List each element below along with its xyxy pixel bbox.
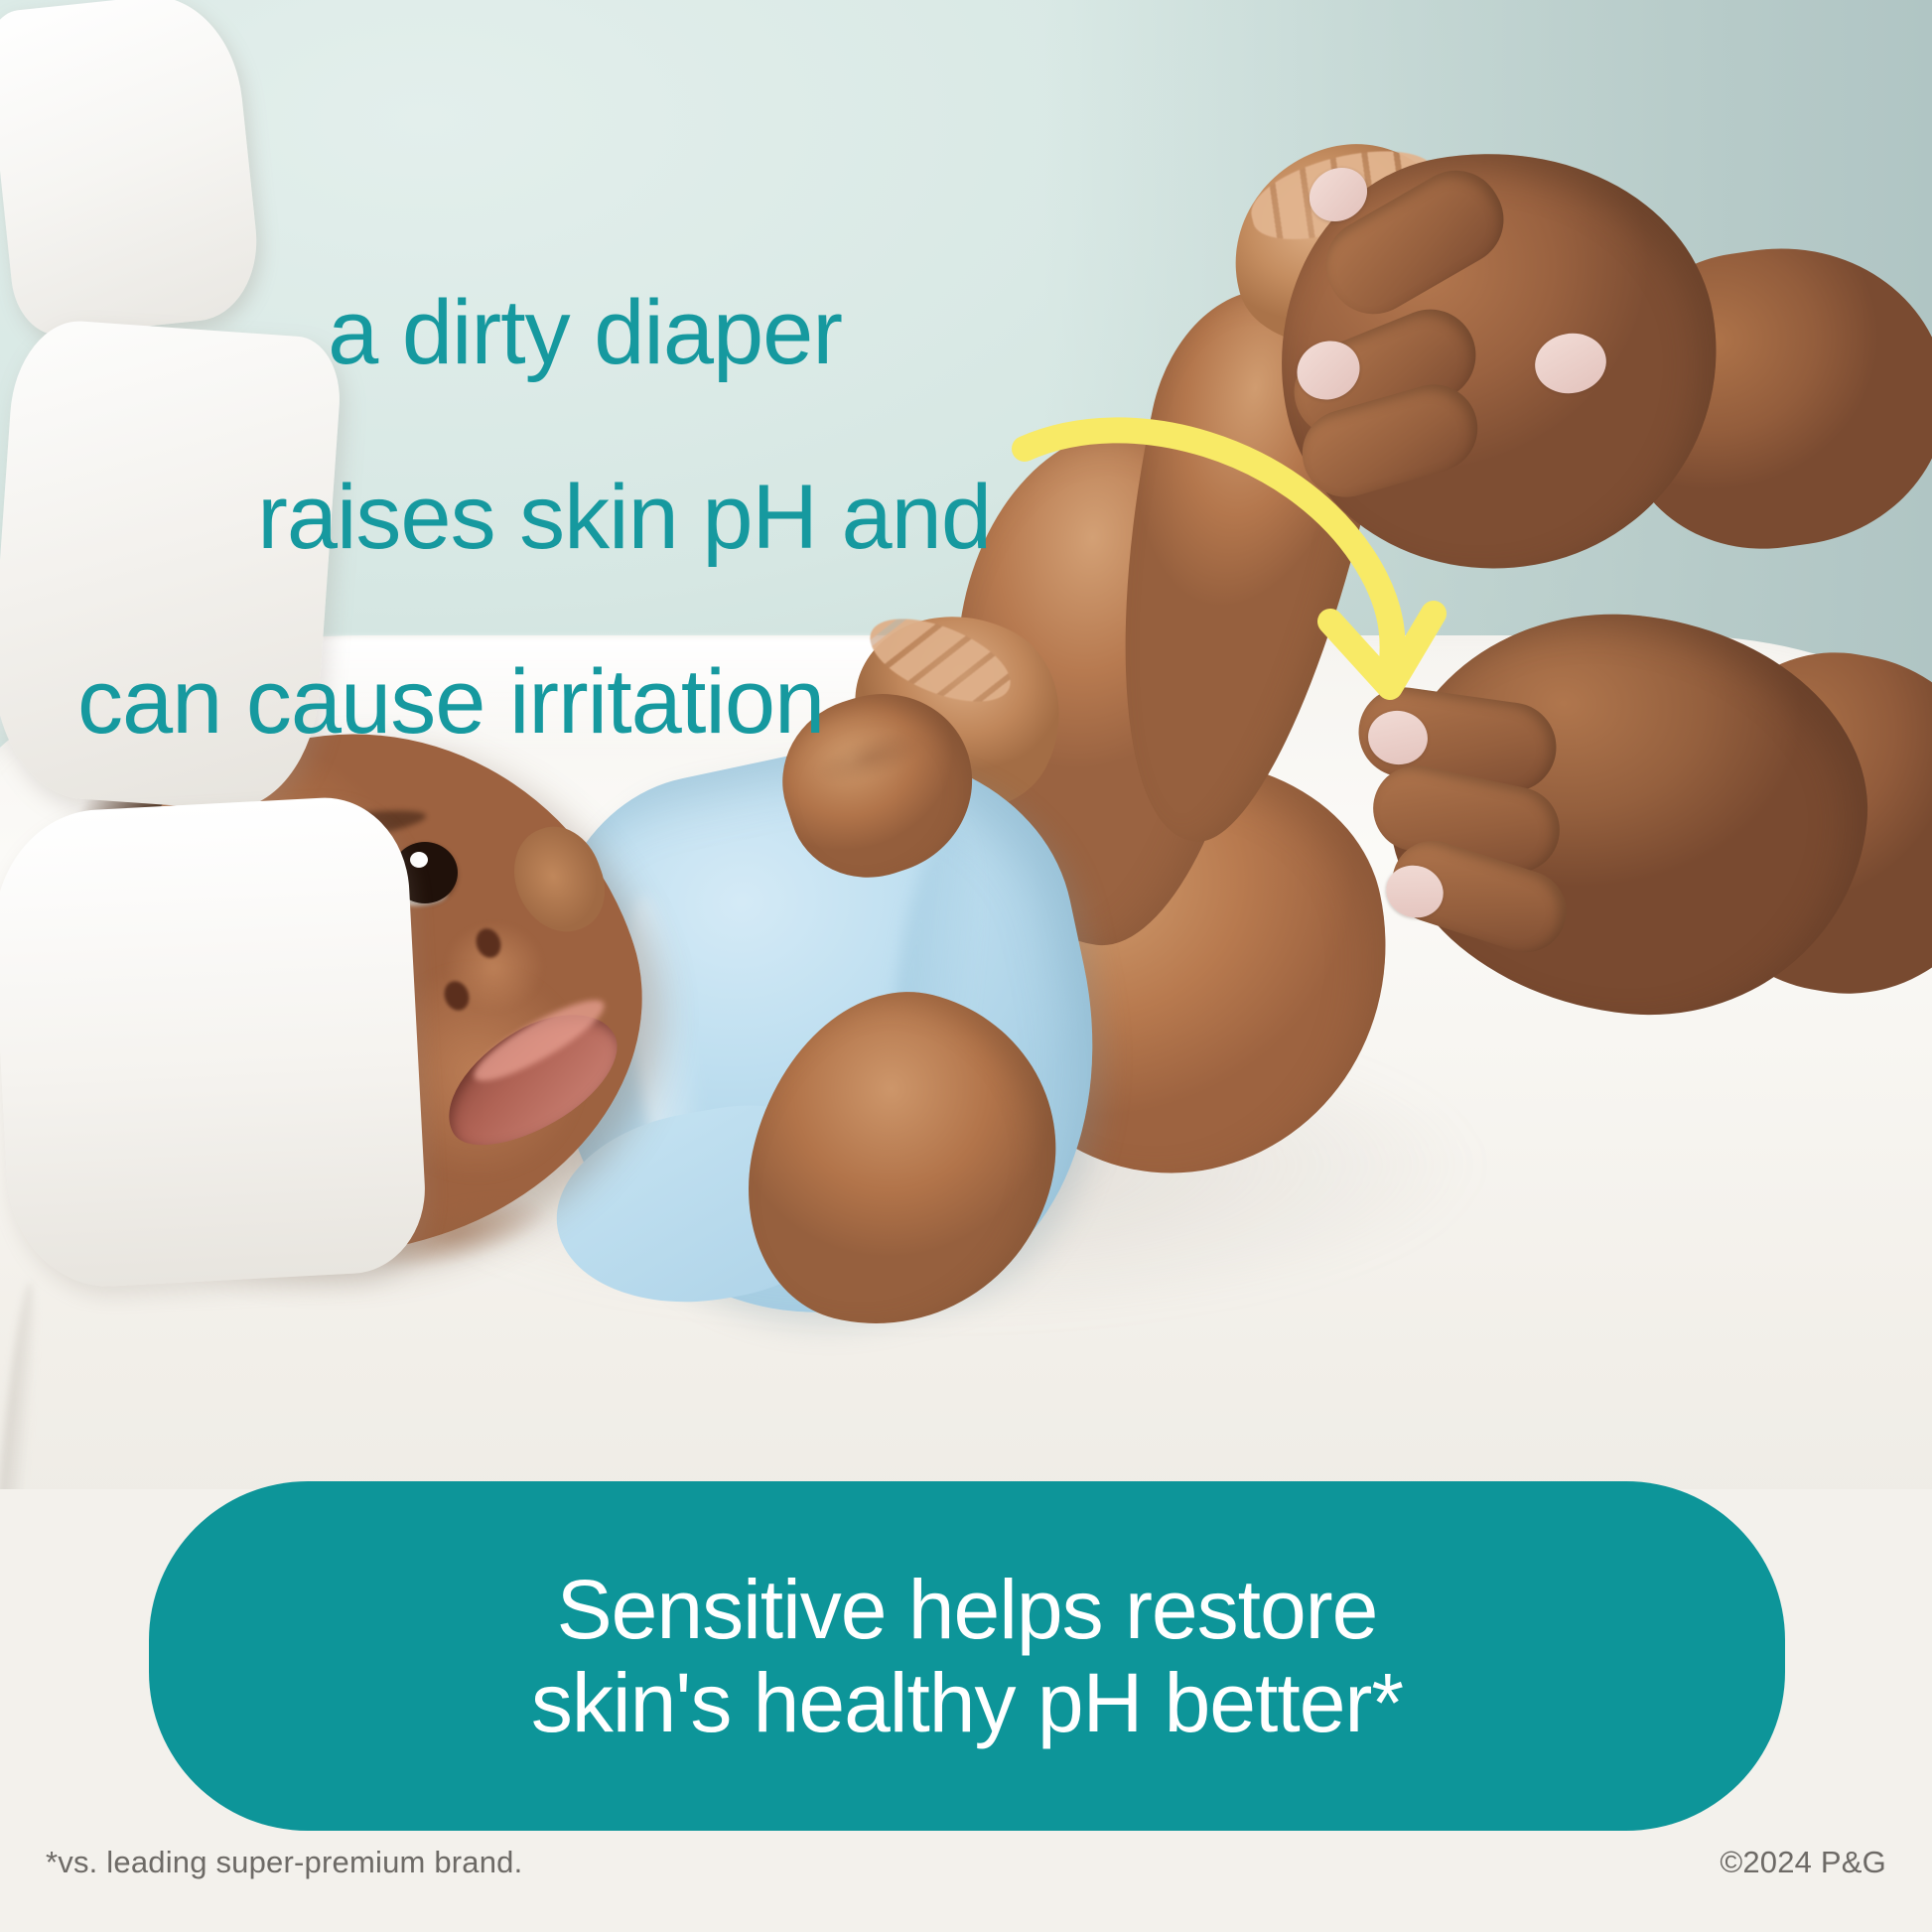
footnote-disclaimer: *vs. leading super-premium brand. [46, 1845, 522, 1880]
headline-line-3: can cause irritation [77, 656, 1070, 749]
footer: *vs. leading super-premium brand. ©2024 … [0, 1845, 1932, 1880]
claim-banner-text: Sensitive helps restore skin's healthy p… [531, 1563, 1403, 1749]
ad-creative: a dirty diaper raises skin pH and can ca… [0, 0, 1932, 1932]
baby-wipe-bottom [0, 793, 429, 1291]
headline-line-2: raises skin pH and [77, 472, 1070, 564]
headline: a dirty diaper raises skin pH and can ca… [77, 195, 1070, 840]
claim-banner: Sensitive helps restore skin's healthy p… [149, 1481, 1785, 1831]
copyright-notice: ©2024 P&G [1720, 1845, 1886, 1880]
baby-eye-glint-upper [410, 852, 428, 868]
headline-line-1: a dirty diaper [77, 287, 1070, 379]
